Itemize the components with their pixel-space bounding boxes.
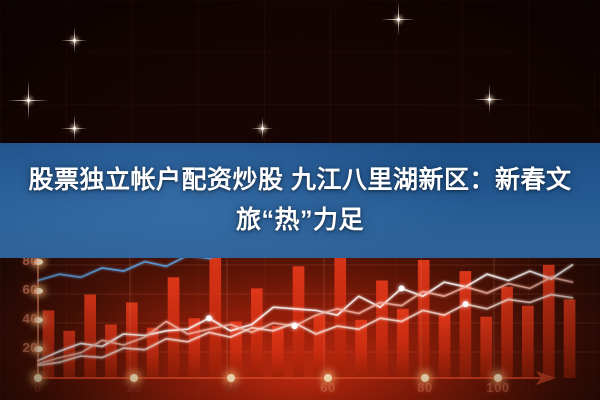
chart-line-series-white-lower (38, 295, 573, 366)
chart-bar (272, 326, 284, 378)
chart-bar (543, 265, 555, 378)
chart-bar (522, 306, 534, 378)
chart-bar (480, 317, 492, 378)
chart-bar (376, 281, 388, 379)
x-axis-label-40: 40 (216, 380, 246, 395)
chart-point-marker (399, 285, 405, 291)
chart-point-marker (463, 301, 469, 307)
x-axis-label-60: 60 (313, 380, 343, 395)
y-axis-label-20: 20 (4, 340, 38, 355)
chart-bar (251, 288, 263, 378)
x-axis-label-20: 20 (119, 380, 149, 395)
thumbnail-image: 100 80 60 40 20 0 20 40 60 80 100 股票独立帐户… (0, 0, 600, 400)
page-title: 股票独立帐户配资炒股 九江八里湖新区：新春文 旅“热”力足 (0, 160, 600, 240)
y-axis-label-40: 40 (4, 311, 38, 326)
chart-bar (418, 260, 430, 378)
x-axis-label-0: 0 (23, 380, 53, 395)
chart-bar (84, 295, 96, 378)
y-axis-label-60: 60 (4, 282, 38, 297)
chart-bar (564, 299, 576, 378)
chart-point-marker (206, 315, 212, 321)
x-axis-label-80: 80 (410, 380, 440, 395)
chart-bars (43, 244, 576, 378)
x-axis-label-100: 100 (483, 380, 513, 395)
headline-line-2: 旅“热”力足 (0, 200, 600, 240)
headline-line-1: 股票独立帐户配资炒股 九江八里湖新区：新春文 (0, 160, 600, 200)
chart-bar (43, 310, 55, 378)
chart-point-marker (292, 323, 298, 329)
chart-bar (209, 252, 221, 378)
chart-line-series-white-upper (38, 265, 573, 361)
chart-bar (439, 314, 451, 379)
